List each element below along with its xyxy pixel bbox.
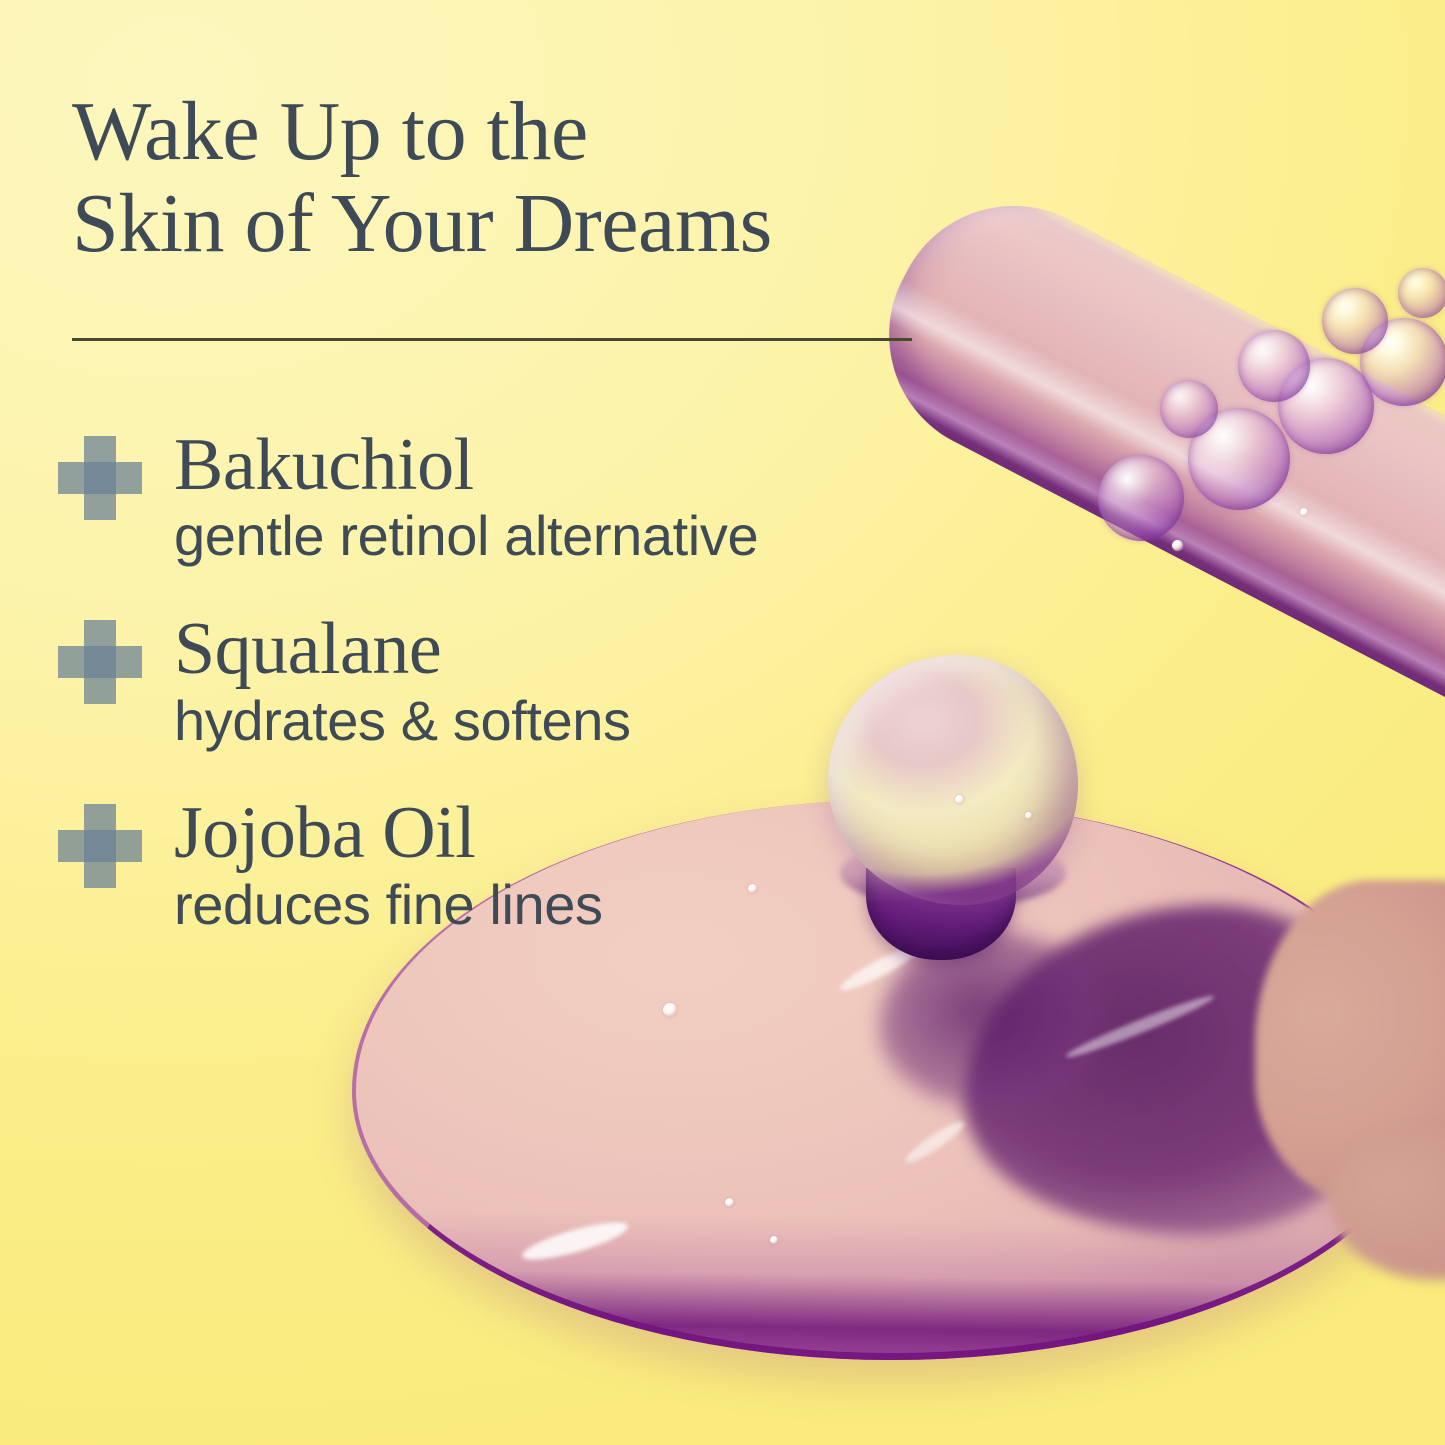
plus-icon — [58, 436, 142, 520]
promo-image: Wake Up to the Skin of Your Dreams Bakuc… — [0, 0, 1445, 1445]
plus-icon — [58, 620, 142, 704]
ingredient-name: Jojoba Oil — [174, 796, 1018, 871]
plus-icon — [58, 804, 142, 888]
list-item: Bakuchiol gentle retinol alternative — [58, 428, 1018, 568]
headline-line-2: Skin of Your Dreams — [72, 178, 972, 270]
plus-icon-vertical-bar — [84, 804, 116, 888]
headline-line-1: Wake Up to the — [72, 86, 972, 178]
plus-icon-vertical-bar — [84, 436, 116, 520]
ingredient-name: Squalane — [174, 612, 1018, 687]
ingredient-description: gentle retinol alternative — [174, 505, 1018, 568]
page-title: Wake Up to the Skin of Your Dreams — [72, 86, 972, 271]
divider — [72, 338, 912, 341]
list-item: Squalane hydrates & softens — [58, 612, 1018, 752]
ingredient-description: hydrates & softens — [174, 690, 1018, 753]
ingredient-name: Bakuchiol — [174, 428, 1018, 503]
text-overlay: Wake Up to the Skin of Your Dreams Bakuc… — [0, 0, 1445, 1445]
ingredient-description: reduces fine lines — [174, 874, 1018, 937]
plus-icon-vertical-bar — [84, 620, 116, 704]
list-item: Jojoba Oil reduces fine lines — [58, 796, 1018, 936]
benefits-list: Bakuchiol gentle retinol alternative Squ… — [58, 428, 1018, 981]
